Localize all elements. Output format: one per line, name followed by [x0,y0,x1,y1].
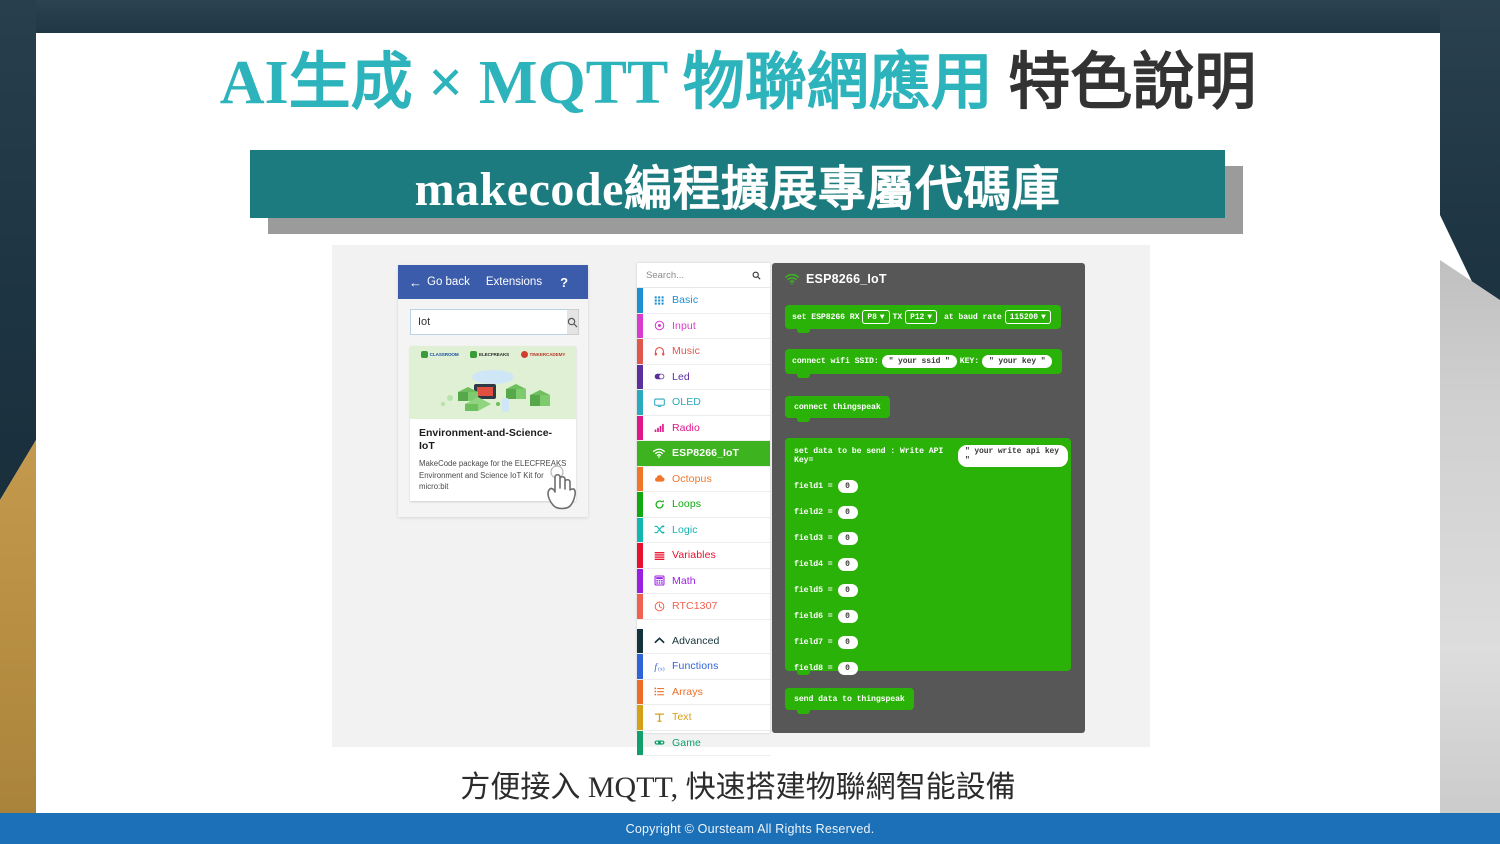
page-title-dark: 特色說明 [993,49,1257,117]
category-label: Radio [672,422,700,434]
field-row-3: field3 =0 [794,525,1071,551]
category-color-bar [637,365,643,390]
footer-bar: Copyright © Oursteam All Rights Reserved… [0,813,1500,844]
field-row-6: field6 =0 [794,603,1071,629]
toolbox-category-basic[interactable]: Basic [637,288,770,314]
extension-thumbnail: CLASSROOM ELECFREAKS TINKERCADEMY [410,346,576,419]
logo-elecfreaks-label: ELECFREAKS [479,352,509,357]
block-set-data[interactable]: set data to be send : Write API Key= " y… [785,438,1071,671]
block-set-data-text: set data to be send : Write API Key= [794,447,955,465]
field-value-input[interactable]: 0 [838,584,858,597]
chevron-down-icon: ▼ [880,313,885,322]
category-label: Loops [672,498,701,510]
block-connect-wifi-text1: connect wifi SSID: [792,357,879,366]
logo-classroom: CLASSROOM [421,351,459,358]
subtitle-text: makecode編程擴展專屬代碼庫 [415,149,1061,219]
grid-icon [649,295,669,306]
category-label: Game [672,737,701,749]
category-label: RTC1307 [672,600,717,612]
frame-left-navy [0,0,36,500]
field-label: field3 = [794,534,833,543]
extension-card-title: Environment-and-Science-IoT [410,419,576,455]
extensions-dialog-header: ← Go back Extensions ? [398,265,588,299]
field-row-8: field8 =0 [794,655,1071,681]
toolbox-separator [637,620,770,629]
field-row-5: field5 =0 [794,577,1071,603]
text-icon [649,712,669,723]
category-label: Text [672,711,692,723]
led-icon [649,371,669,382]
extension-search-input[interactable] [410,309,567,335]
headphone-icon [649,346,669,357]
toolbox-category-led[interactable]: Led [637,365,770,391]
toolbox-category-radio[interactable]: Radio [637,416,770,442]
category-label: ESP8266_IoT [672,447,739,459]
target-icon [649,320,669,331]
arrow-left-icon: ← [409,276,422,289]
category-color-bar [637,680,643,705]
search-icon[interactable] [567,309,579,335]
block-connect-thingspeak-text: connect thingspeak [794,403,881,412]
block-flyout: ESP8266_IoT set ESP8266 RX P8 ▼ TX P12 ▼… [772,263,1085,733]
toolbox-category-list: Search... BasicInputMusicLedOLEDRadio ES… [637,263,770,733]
ssid-input[interactable]: " your ssid " [882,355,957,368]
api-key-input[interactable]: " your write api key " [958,445,1068,467]
block-connect-wifi-text2: KEY: [960,357,979,366]
toolbox-search-placeholder: Search... [646,270,684,281]
go-back-label: Go back [427,276,470,288]
lines-icon [649,550,669,561]
field-label: field5 = [794,586,833,595]
toolbox-category-input[interactable]: Input [637,314,770,340]
iot-kit-illustration [410,362,576,419]
block-notch [797,418,810,422]
logo-elecfreaks: ELECFREAKS [470,351,509,358]
toolbox-category-music[interactable]: Music [637,339,770,365]
gamepad-icon [649,737,669,748]
block-field-rows: field1 =0field2 =0field3 =0field4 =0fiel… [785,467,1071,681]
category-label: Logic [672,524,698,536]
block-set-esp8266-text3: at baud rate [944,313,1002,322]
frame-right-silver [1440,200,1500,844]
toolbox-category-game[interactable]: Game [637,731,770,757]
block-send-data[interactable]: send data to thingspeak [785,688,914,710]
category-color-bar [637,467,643,492]
baud-rate-dropdown[interactable]: 115200 ▼ [1005,310,1051,324]
list-icon [649,686,669,697]
block-set-esp8266[interactable]: set ESP8266 RX P8 ▼ TX P12 ▼ at baud rat… [785,305,1061,329]
field-row-4: field4 =0 [794,551,1071,577]
extension-search-row [410,309,576,335]
toolbox-category-functions[interactable]: f(x)Functions [637,654,770,680]
page-title-teal: AI生成 × MQTT 物聯網應用 [220,49,993,117]
field-value-input[interactable]: 0 [838,558,858,571]
subtitle-banner: makecode編程擴展專屬代碼庫 [250,150,1240,232]
rx-pin-dropdown[interactable]: P8 ▼ [862,310,889,324]
extensions-dialog-title: Extensions [486,276,542,288]
wifi-icon [649,448,669,459]
category-color-bar [637,339,643,364]
category-color-bar [637,390,643,415]
field-label: field4 = [794,560,833,569]
category-color-bar [637,441,643,466]
field-row-7: field7 =0 [794,629,1071,655]
category-label: Basic [672,294,698,306]
flyout-header-label: ESP8266_IoT [806,272,887,286]
frame-left-gold [0,430,36,844]
logo-tinkercademy: TINKERCADEMY [521,351,566,358]
baud-rate-value: 115200 [1010,313,1038,322]
makecode-screenshot: ← Go back Extensions ? [332,245,1150,747]
block-set-esp8266-text1: set ESP8266 RX [792,313,859,322]
field-value-input[interactable]: 0 [838,610,858,623]
block-notch [797,671,810,675]
toolbox-category-text[interactable]: Text [637,705,770,731]
chevron-down-icon: ▼ [1041,313,1046,322]
category-label: Math [672,575,696,587]
category-label: Variables [672,549,716,561]
flyout-header: ESP8266_IoT [772,263,1085,286]
category-label: Functions [672,660,718,672]
frame-left-edge [0,0,36,844]
field-row-2: field2 =0 [794,499,1071,525]
rx-pin-value: P8 [867,313,876,322]
category-color-bar [637,492,643,517]
clock-icon [649,601,669,612]
category-color-bar [637,518,643,543]
slide-caption: 方便接入 MQTT, 快速搭建物聯網智能設備 [36,762,1440,806]
logo-classroom-label: CLASSROOM [430,352,459,357]
block-set-esp8266-text2: TX [893,313,903,322]
footer-copyright: Copyright © Oursteam All Rights Reserved… [626,822,875,836]
category-color-bar [637,569,643,594]
extensions-dialog: ← Go back Extensions ? [398,265,588,517]
category-color-bar [637,543,643,568]
signal-icon [649,422,669,433]
toolbox-main-categories: BasicInputMusicLedOLEDRadio ESP8266_IoTO… [637,288,770,620]
category-color-bar [637,705,643,730]
frame-top-strip [0,0,1500,33]
toolbox-category-math[interactable]: Math [637,569,770,595]
monitor-icon [649,397,669,408]
category-color-bar [637,654,643,679]
category-label: Input [672,320,696,332]
field-value-input[interactable]: 0 [838,480,858,493]
shuffle-icon [649,524,669,535]
block-notch [797,374,810,378]
block-notch [797,329,810,333]
toolbox-category-variables[interactable]: Variables [637,543,770,569]
category-color-bar [637,594,643,619]
go-back-button[interactable]: ← Go back [409,276,470,289]
field-row-1: field1 =0 [794,473,1071,499]
block-send-data-text: send data to thingspeak [794,695,905,704]
tinkercademy-icon [521,351,528,358]
subtitle-banner-box: makecode編程擴展專屬代碼庫 [250,150,1225,218]
category-color-bar [637,416,643,441]
toolbox-category-arrays[interactable]: Arrays [637,680,770,706]
toolbox-category-logic[interactable]: Logic [637,518,770,544]
toolbox-category-octopus[interactable]: Octopus [637,467,770,493]
toolbox-search-row[interactable]: Search... [637,263,770,288]
category-label: Arrays [672,686,703,698]
svg-text:(x): (x) [658,665,665,671]
field-label: field2 = [794,508,833,517]
extension-logo-row: CLASSROOM ELECFREAKS TINKERCADEMY [410,351,576,358]
search-icon[interactable] [752,271,761,280]
toolbox-category-loops[interactable]: Loops [637,492,770,518]
field-value-input[interactable]: 0 [838,532,858,545]
category-label: Advanced [672,635,720,647]
calculator-icon [649,575,669,586]
logo-tinkercademy-label: TINKERCADEMY [530,352,566,357]
tx-pin-value: P12 [910,313,924,322]
help-icon[interactable]: ? [560,275,568,290]
loop-icon [649,499,669,510]
toolbox-advanced-categories: Advancedf(x)FunctionsArraysTextGame [637,629,770,757]
field-label: field1 = [794,482,833,491]
hand-cursor-icon [542,465,582,513]
field-value-input[interactable]: 0 [838,506,858,519]
page-title: AI生成 × MQTT 物聯網應用 特色說明 [36,52,1440,114]
category-color-bar [637,288,643,313]
chevron-up-icon [649,635,669,646]
field-value-input[interactable]: 0 [838,662,858,675]
block-connect-wifi[interactable]: connect wifi SSID: " your ssid " KEY: " … [785,349,1062,374]
wifi-key-input[interactable]: " your key " [982,355,1052,368]
block-connect-thingspeak[interactable]: connect thingspeak [785,396,890,418]
category-label: Led [672,371,690,383]
category-label: Music [672,345,700,357]
frame-right-edge [1440,0,1500,844]
chevron-down-icon: ▼ [927,313,932,322]
elecfreaks-icon [470,351,477,358]
category-color-bar [637,731,643,756]
toolbox-category-esp8266-iot[interactable]: ESP8266_IoT [637,441,770,467]
toolbox-category-oled[interactable]: OLED [637,390,770,416]
toolbox-category-advanced[interactable]: Advanced [637,629,770,655]
category-label: Octopus [672,473,712,485]
slide-root: AI生成 × MQTT 物聯網應用 特色說明 makecode編程擴展專屬代碼庫… [0,0,1500,844]
block-notch [797,710,810,714]
category-label: OLED [672,396,701,408]
field-label: field6 = [794,612,833,621]
function-icon: f(x) [649,661,669,672]
cloud-icon [649,473,669,484]
toolbox-category-rtc1307[interactable]: RTC1307 [637,594,770,620]
field-label: field7 = [794,638,833,647]
category-color-bar [637,314,643,339]
field-value-input[interactable]: 0 [838,636,858,649]
classroom-icon [421,351,428,358]
wifi-icon [785,274,799,285]
category-color-bar [637,629,643,654]
tx-pin-dropdown[interactable]: P12 ▼ [905,310,937,324]
